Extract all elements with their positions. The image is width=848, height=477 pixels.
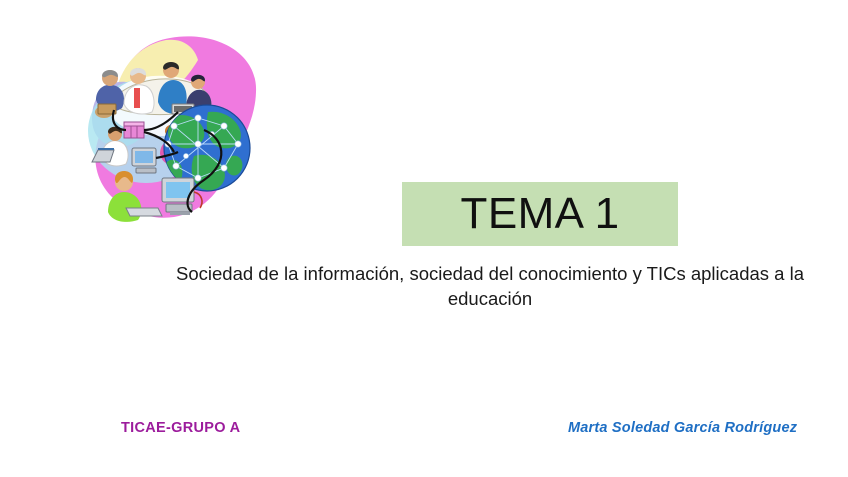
footer-group-label: TICAE-GRUPO A xyxy=(121,420,240,436)
title-banner: TEMA 1 xyxy=(402,182,678,246)
subtitle-line-1: Sociedad de la información, sociedad del… xyxy=(176,263,769,284)
footer-author-name: Marta Soledad García Rodríguez xyxy=(568,420,797,436)
network-collaboration-clipart xyxy=(74,26,264,222)
desktop-monitor-middle xyxy=(132,148,156,173)
page-title: TEMA 1 xyxy=(461,192,620,236)
subtitle: Sociedad de la información, sociedad del… xyxy=(140,262,840,312)
slide-canvas: TEMA 1 Sociedad de la información, socie… xyxy=(0,0,848,477)
server-stack xyxy=(124,122,144,138)
